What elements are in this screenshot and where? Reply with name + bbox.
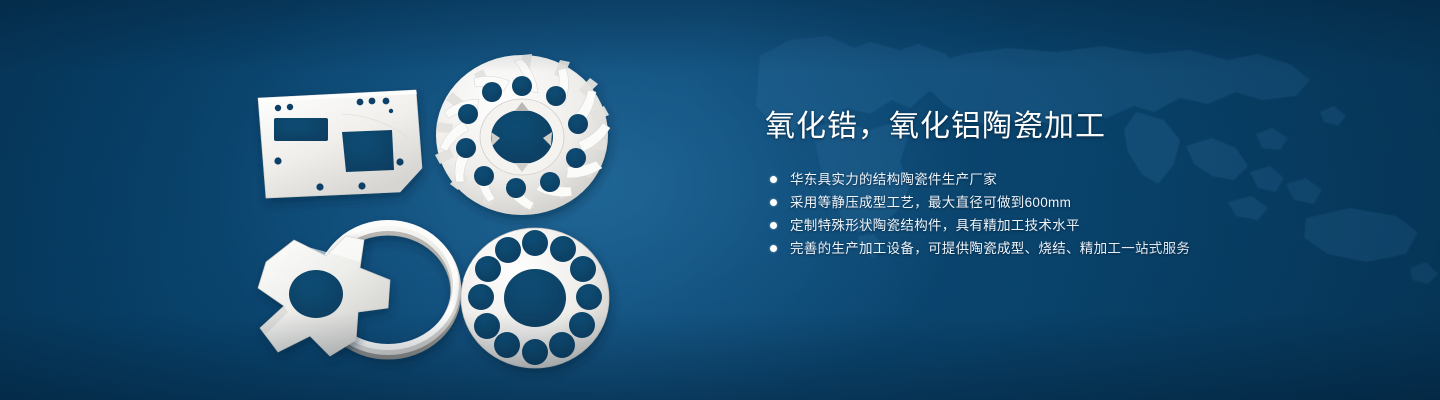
promo-banner: 氧化锆，氧化铝陶瓷加工 华东具实力的结构陶瓷件生产厂家 采用等静压成型工艺，最大… — [0, 0, 1440, 400]
background-vignette — [0, 0, 1440, 400]
